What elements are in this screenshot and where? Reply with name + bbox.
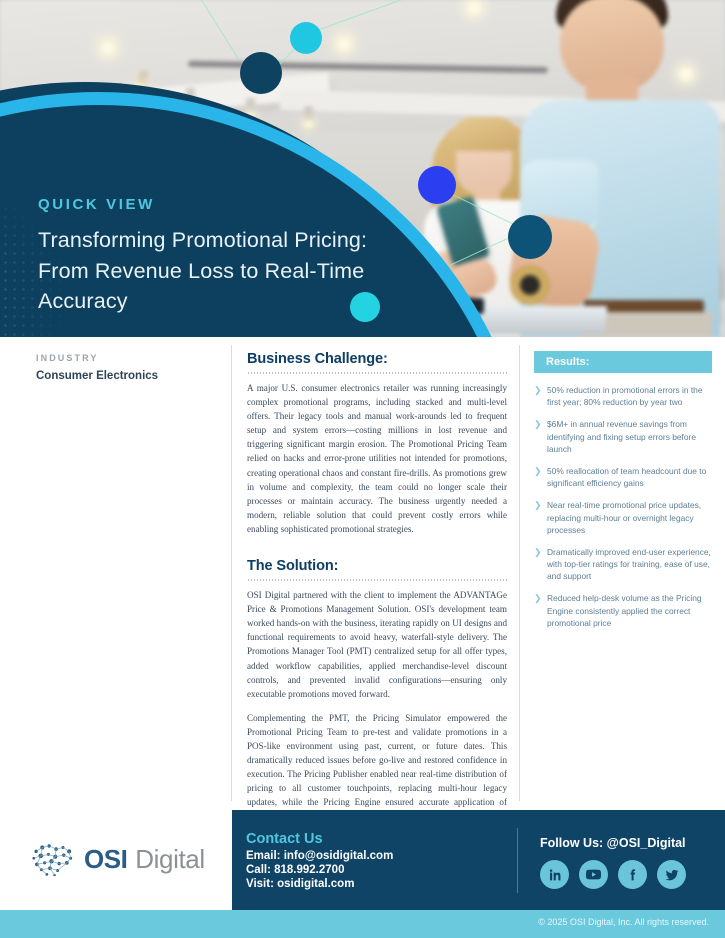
footer-divider bbox=[517, 828, 518, 893]
logo-primary-text: OSI bbox=[84, 844, 127, 875]
follow-heading: Follow Us: @OSI_Digital bbox=[540, 836, 686, 850]
contact-block: Contact Us Email: info@osidigital.com Ca… bbox=[246, 831, 496, 892]
result-text: Dramatically improved end-user experienc… bbox=[547, 547, 711, 581]
result-text: Reduced help-desk volume as the Pricing … bbox=[547, 593, 702, 627]
business-challenge-paragraph: A major U.S. consumer electronics retail… bbox=[247, 381, 507, 536]
contact-heading: Contact Us bbox=[246, 831, 496, 847]
divider-right bbox=[519, 345, 520, 801]
content-area: INDUSTRY Consumer Electronics Business C… bbox=[0, 337, 725, 810]
result-item: ❯ Reduced help-desk volume as the Pricin… bbox=[534, 592, 712, 629]
youtube-icon[interactable] bbox=[579, 860, 608, 889]
contact-email[interactable]: Email: info@osidigital.com bbox=[246, 850, 496, 862]
footer: OSI Digital Contact Us Email: info@osidi… bbox=[0, 810, 725, 910]
hero-text-block: QUICK VIEW Transforming Promotional Pric… bbox=[38, 196, 368, 317]
result-item: ❯ 50% reduction in promotional errors in… bbox=[534, 384, 712, 408]
osi-network-logo-icon bbox=[30, 842, 76, 876]
contact-phone[interactable]: Call: 818.992.2700 bbox=[246, 864, 496, 876]
chevron-right-icon: ❯ bbox=[534, 592, 542, 605]
industry-label: INDUSTRY bbox=[36, 353, 216, 363]
ceiling-spotlight bbox=[336, 36, 352, 52]
chevron-right-icon: ❯ bbox=[534, 546, 542, 559]
track-light bbox=[304, 106, 313, 122]
hero-title: Transforming Promotional Pricing: From R… bbox=[38, 225, 368, 317]
chevron-right-icon: ❯ bbox=[534, 418, 542, 431]
chevron-right-icon: ❯ bbox=[534, 499, 542, 512]
ceiling-spotlight bbox=[100, 40, 116, 56]
industry-column: INDUSTRY Consumer Electronics bbox=[36, 353, 216, 382]
logo-secondary-text: Digital bbox=[135, 844, 204, 875]
dotted-rule bbox=[247, 579, 507, 581]
node-navy-top bbox=[240, 52, 282, 94]
linkedin-icon[interactable] bbox=[540, 860, 569, 889]
node-blue bbox=[418, 166, 456, 204]
copyright-bar: © 2025 OSI Digital, Inc. All rights rese… bbox=[0, 910, 725, 938]
result-item: ❯ Dramatically improved end-user experie… bbox=[534, 546, 712, 583]
node-navy-right bbox=[508, 215, 552, 259]
ceiling-spotlight bbox=[466, 0, 482, 16]
dotted-rule bbox=[247, 372, 507, 374]
copyright-text: © 2025 OSI Digital, Inc. All rights rese… bbox=[538, 917, 709, 927]
social-links bbox=[540, 860, 686, 889]
results-column: Results: ❯ 50% reduction in promotional … bbox=[534, 351, 712, 639]
solution-paragraph-1: OSI Digital partnered with the client to… bbox=[247, 588, 507, 701]
result-text: 50% reduction in promotional errors in t… bbox=[547, 385, 703, 407]
result-item: ❯ Near real-time promotional price updat… bbox=[534, 499, 712, 536]
hero-banner: QUICK VIEW Transforming Promotional Pric… bbox=[0, 0, 725, 337]
results-heading: Results: bbox=[534, 351, 712, 373]
node-cyan-top bbox=[290, 22, 322, 54]
facebook-icon[interactable] bbox=[618, 860, 647, 889]
chevron-right-icon: ❯ bbox=[534, 384, 542, 397]
result-text: $6M+ in annual revenue savings from iden… bbox=[547, 419, 696, 453]
wristwatch bbox=[513, 268, 547, 302]
osi-digital-logo[interactable]: OSI Digital bbox=[30, 842, 205, 876]
result-text: Near real-time promotional price updates… bbox=[547, 500, 701, 534]
the-solution-heading: The Solution: bbox=[247, 558, 507, 574]
divider-left bbox=[231, 345, 232, 801]
twitter-icon[interactable] bbox=[657, 860, 686, 889]
chevron-right-icon: ❯ bbox=[534, 465, 542, 478]
result-item: ❯ $6M+ in annual revenue savings from id… bbox=[534, 418, 712, 455]
result-item: ❯ 50% reallocation of team headcount due… bbox=[534, 465, 712, 489]
result-text: 50% reallocation of team headcount due t… bbox=[547, 466, 706, 488]
section-gap bbox=[247, 546, 507, 558]
ceiling-spotlight bbox=[678, 66, 694, 82]
contact-website[interactable]: Visit: osidigital.com bbox=[246, 878, 496, 890]
track-light bbox=[246, 98, 255, 114]
hero-kicker: QUICK VIEW bbox=[38, 196, 368, 213]
main-column: Business Challenge: A major U.S. consume… bbox=[247, 351, 507, 862]
quick-view-document: QUICK VIEW Transforming Promotional Pric… bbox=[0, 0, 725, 938]
business-challenge-heading: Business Challenge: bbox=[247, 351, 507, 367]
follow-block: Follow Us: @OSI_Digital bbox=[540, 836, 686, 889]
woman-hair-front bbox=[450, 117, 520, 151]
industry-value: Consumer Electronics bbox=[36, 370, 216, 382]
